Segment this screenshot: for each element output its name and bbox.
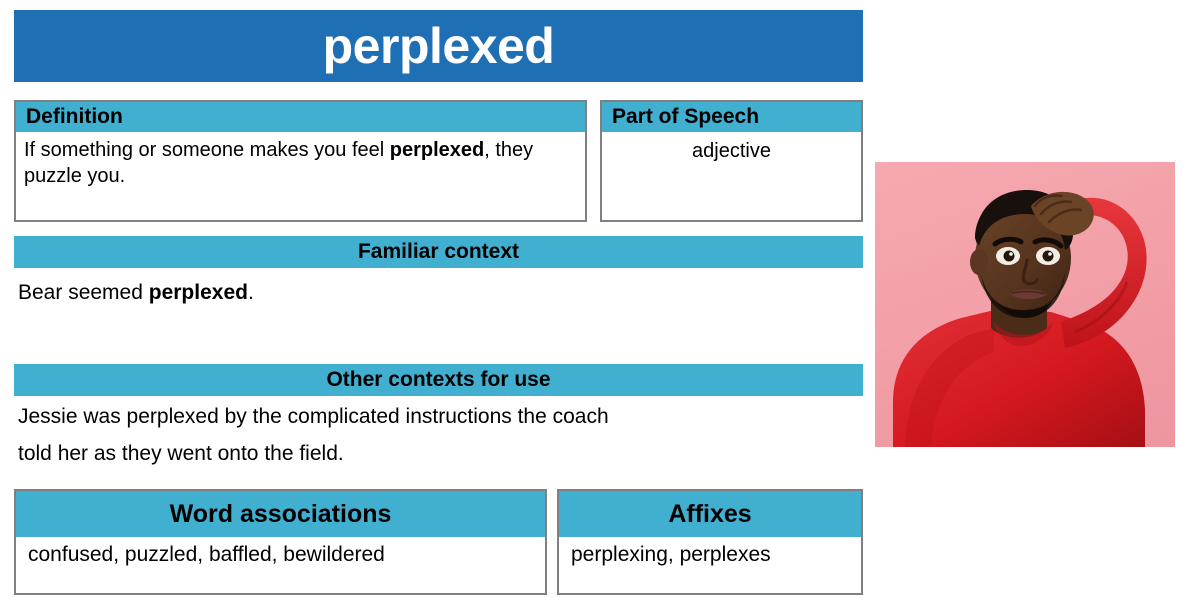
affixes-header-label: Affixes (668, 500, 751, 529)
definition-text-before: If something or someone makes you feel (24, 139, 390, 161)
photo-illustration (875, 162, 1175, 447)
affixes-header: Affixes (559, 491, 861, 537)
definition-text-bold: perplexed (390, 139, 484, 161)
part-of-speech-value: adjective (602, 132, 861, 164)
familiar-context-text-before: Bear seemed (18, 281, 149, 304)
definition-header-label: Definition (26, 105, 123, 129)
page-title: perplexed (323, 21, 555, 71)
familiar-context-header: Familiar context (14, 236, 863, 268)
other-contexts-text: Jessie was perplexed by the complicated … (18, 398, 863, 473)
affixes-box: Affixes perplexing, perplexes (557, 489, 863, 595)
familiar-context-header-label: Familiar context (358, 240, 519, 264)
word-associations-header: Word associations (16, 491, 545, 537)
part-of-speech-box: Part of Speech adjective (600, 100, 863, 222)
definition-header: Definition (16, 102, 585, 132)
definition-box: Definition If something or someone makes… (14, 100, 587, 222)
word-associations-box: Word associations confused, puzzled, baf… (14, 489, 547, 595)
familiar-context-text: Bear seemed perplexed. (18, 278, 858, 308)
familiar-context-text-bold: perplexed (149, 281, 248, 304)
word-title-banner: perplexed (14, 10, 863, 82)
man-scratching-head-photo (875, 162, 1175, 447)
affixes-value: perplexing, perplexes (559, 537, 861, 567)
part-of-speech-header-label: Part of Speech (612, 105, 759, 129)
definition-body: If something or someone makes you feel p… (16, 132, 585, 190)
part-of-speech-header: Part of Speech (602, 102, 861, 132)
word-associations-header-label: Word associations (170, 500, 392, 529)
other-contexts-line-1: Jessie was perplexed by the complicated … (18, 398, 863, 435)
other-contexts-header-label: Other contexts for use (326, 368, 550, 392)
other-contexts-header: Other contexts for use (14, 364, 863, 396)
word-associations-value: confused, puzzled, baffled, bewildered (16, 537, 545, 567)
vocabulary-word-card: perplexed Definition If something or som… (0, 0, 1200, 602)
other-contexts-line-2: told her as they went onto the field. (18, 435, 863, 472)
familiar-context-text-after: . (248, 281, 254, 304)
